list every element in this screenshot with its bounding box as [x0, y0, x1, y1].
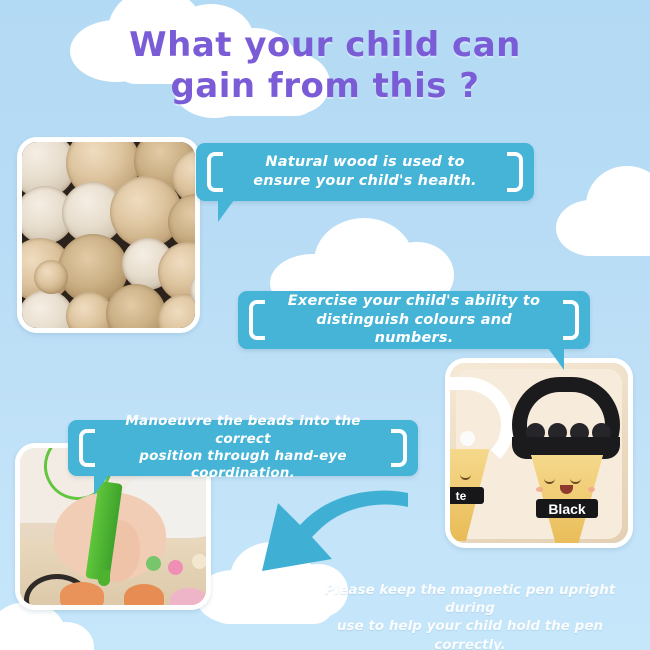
colour-label-partial-text: te [456, 489, 467, 503]
title-line-1: What your child can [0, 26, 650, 64]
infographic-canvas: What your child can gain from this ? [0, 0, 650, 650]
colour-label-black-text: Black [548, 501, 585, 517]
bubble-2-line-1: Exercise your child's ability to [288, 293, 540, 309]
bubble-1-line-1: Natural wood is used to [265, 154, 464, 170]
bracket-right-icon [563, 300, 579, 340]
bubble-3-line-1: Manoeuvre the beads into the correct [125, 413, 360, 446]
photo-ice-cream-toy: te Black [445, 358, 633, 548]
cloud-right [556, 160, 650, 264]
bracket-left-icon [207, 152, 223, 192]
colour-label-black: Black [536, 499, 598, 518]
bubble-hand-eye: Manoeuvre the beads into the correct pos… [68, 420, 418, 476]
bubble-2-tail [548, 348, 564, 370]
bead-white [460, 431, 475, 446]
curved-arrow-down-left-icon [240, 485, 410, 595]
ice-cream-toy-image: te Black [450, 363, 628, 543]
caption-line-2: use to help your child hold the pen corr… [337, 618, 603, 650]
bracket-right-icon [391, 429, 407, 467]
caption-line-1: Please keep the magnetic pen upright dur… [325, 582, 616, 616]
bubble-3-line-2: position through hand-eye coordination. [139, 448, 347, 481]
board-motif-1 [60, 582, 104, 608]
bracket-left-icon [79, 429, 95, 467]
bracket-right-icon [507, 152, 523, 192]
bubble-natural-wood: Natural wood is used to ensure your chil… [196, 143, 534, 201]
bubble-1-line-2: ensure your child's health. [253, 173, 477, 189]
board-motif-2 [124, 584, 164, 610]
bubble-colours-numbers: Exercise your child's ability to disting… [238, 291, 590, 349]
bead-pink [168, 560, 183, 575]
magnetic-pen-tip [98, 570, 110, 586]
bead-green [146, 556, 161, 571]
bracket-left-icon [249, 300, 265, 340]
bubble-3-tail [94, 475, 109, 495]
photo-wood-logs [17, 137, 200, 333]
page-title: What your child can gain from this ? [0, 26, 650, 108]
colour-label-partial: te [445, 487, 484, 504]
title-line-2: gain from this ? [0, 64, 650, 108]
bottom-caption: Please keep the magnetic pen upright dur… [300, 581, 640, 650]
bead-cream [192, 554, 207, 569]
bubble-1-tail [218, 200, 234, 222]
wood-logs-image [22, 142, 195, 328]
bubble-2-line-2: distinguish colours and numbers. [316, 312, 512, 347]
